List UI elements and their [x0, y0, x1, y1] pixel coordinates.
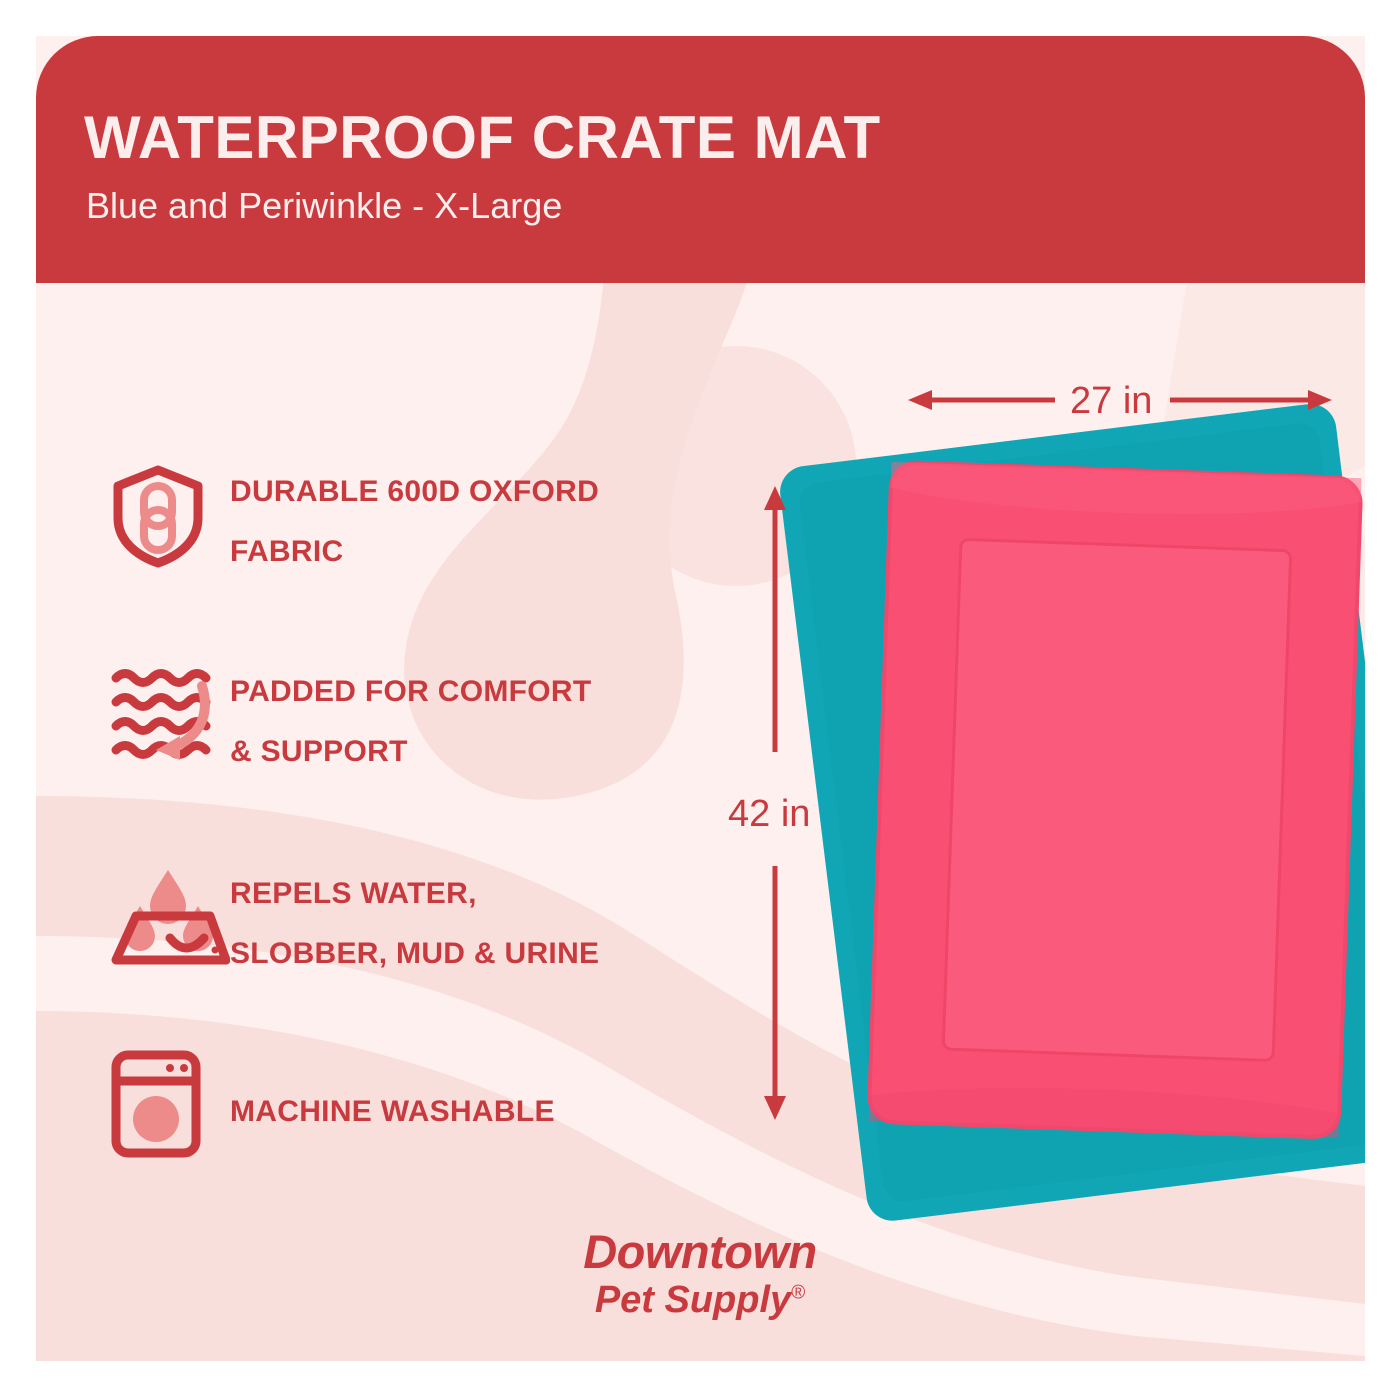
feature-line-1: REPELS WATER,	[230, 864, 599, 924]
feature-item-durable-fabric: DURABLE 600D OXFORD FABRIC	[110, 462, 599, 582]
feature-line-2: SLOBBER, MUD & URINE	[230, 924, 599, 984]
feature-item-padded-comfort: PADDED FOR COMFORT & SUPPORT	[110, 662, 592, 782]
feature-line-1: DURABLE 600D OXFORD	[230, 462, 599, 522]
washer-drum-icon	[133, 1096, 179, 1142]
feature-line-2: & SUPPORT	[230, 722, 592, 782]
feature-label: DURABLE 600D OXFORD FABRIC	[230, 462, 599, 582]
feature-line-1: PADDED FOR COMFORT	[230, 662, 592, 722]
arrowhead-up-icon	[764, 486, 786, 510]
width-dimension-label: 27 in	[1070, 380, 1152, 423]
washer-dial-dot-icon	[166, 1064, 174, 1072]
height-dimension-label: 42 in	[728, 793, 810, 836]
logo-line-2: Pet Supply®	[0, 1281, 1400, 1319]
brand-logo: Downtown Pet Supply®	[0, 1228, 1400, 1319]
feature-label: REPELS WATER, SLOBBER, MUD & URINE	[230, 862, 599, 984]
logo-line-1: Downtown	[0, 1228, 1400, 1275]
logo-line-2-text: Pet Supply	[595, 1279, 791, 1321]
arrowhead-left-icon	[908, 390, 932, 410]
feature-label: MACHINE WASHABLE	[230, 1047, 555, 1142]
feature-item-machine-washable: MACHINE WASHABLE	[110, 1047, 555, 1159]
feature-line-1: MACHINE WASHABLE	[230, 1082, 555, 1142]
infographic-page: WATERPROOF CRATE MAT Blue and Periwinkle…	[0, 0, 1400, 1400]
registered-trademark-icon: ®	[791, 1282, 805, 1303]
water-repel-mat-icon	[110, 862, 230, 968]
arrowhead-down-icon	[764, 1096, 786, 1120]
arrowhead-right-icon	[1308, 390, 1332, 410]
feature-label: PADDED FOR COMFORT & SUPPORT	[230, 662, 592, 782]
feature-line-2: FABRIC	[230, 522, 599, 582]
washing-machine-icon	[110, 1047, 230, 1159]
feature-item-repels-water: REPELS WATER, SLOBBER, MUD & URINE	[110, 862, 599, 984]
padded-waves-icon	[110, 662, 230, 760]
shield-chain-icon	[110, 462, 230, 568]
washer-dial-dot-icon	[180, 1064, 188, 1072]
